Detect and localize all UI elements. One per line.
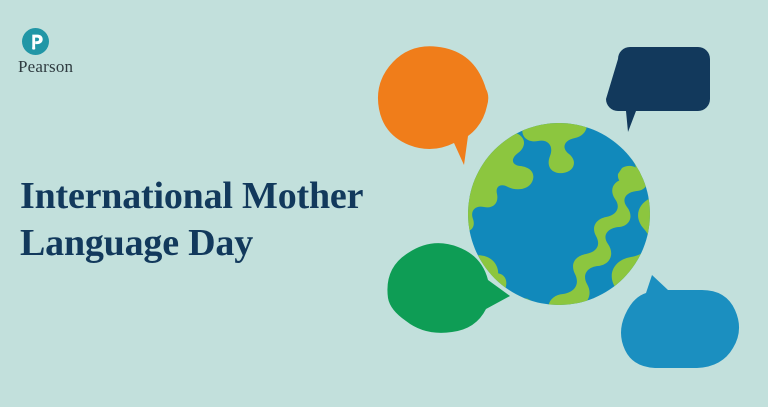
banner-canvas: Pearson International Mother Language Da… [0,0,768,407]
speech-bubble-hello [378,46,488,165]
pearson-wordmark: Pearson [18,57,73,77]
page-title-line-2: Language Day [20,220,420,267]
pearson-interrobang-icon [22,28,49,55]
speech-bubble-nihao [606,47,710,132]
page-title: International Mother Language Day [20,173,420,267]
speech-bubble-urdu [621,275,739,368]
page-title-line-1: International Mother [20,173,420,220]
language-illustration: Hello 你好 Hola وردوا [370,40,760,370]
pearson-logo[interactable]: Pearson [18,28,128,80]
